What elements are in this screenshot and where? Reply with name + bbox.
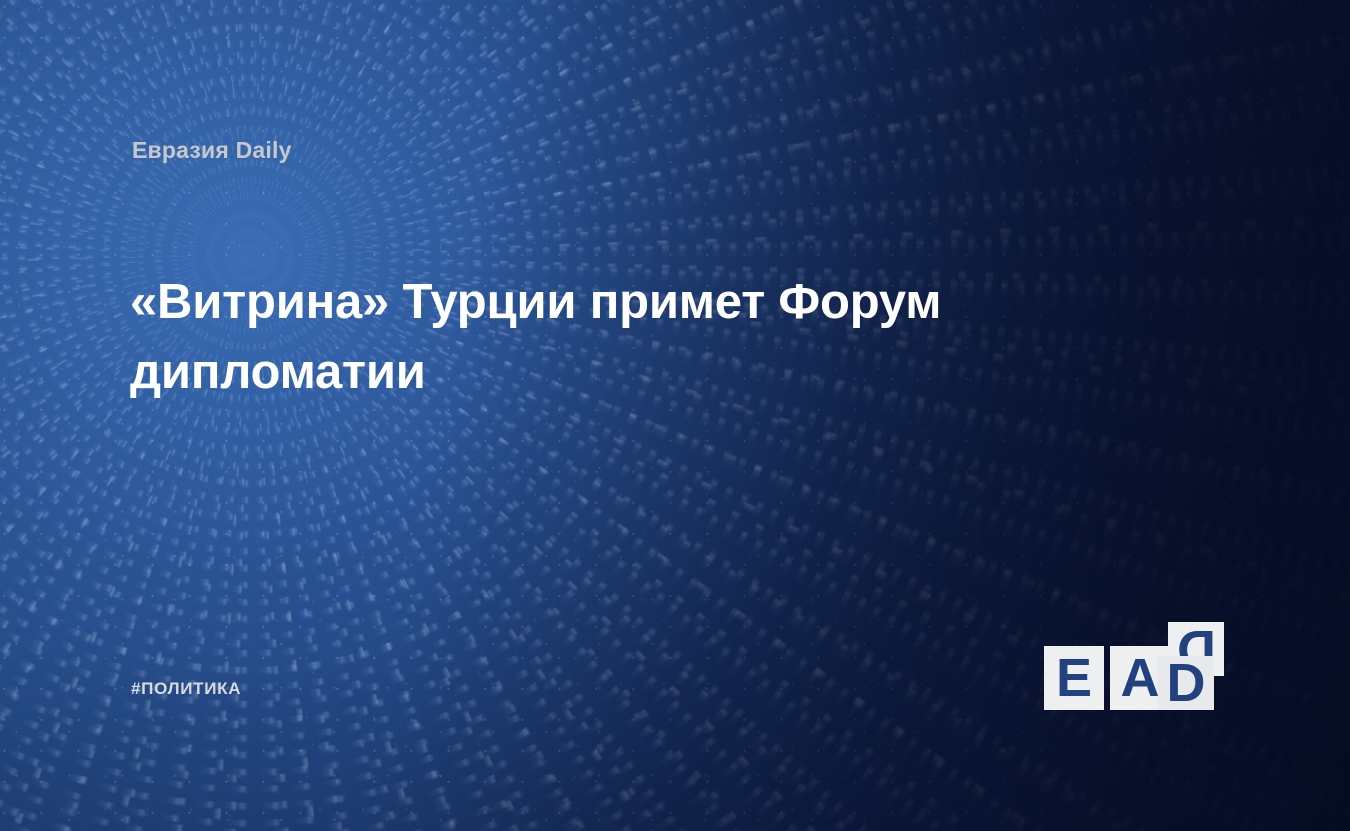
card-content: Евразия Daily «Витрина» Турции примет Фо…: [0, 0, 1350, 831]
logo-letter-a: A: [1121, 651, 1160, 705]
logo-letter-d: D: [1167, 656, 1206, 710]
logo-tile-d: D: [1158, 656, 1214, 710]
logo-tile-e: E: [1044, 646, 1104, 710]
eadaily-logo[interactable]: E A D D: [1044, 622, 1224, 710]
page-title: «Витрина» Турции примет Форум дипломатии: [130, 268, 1060, 407]
news-share-card: Евразия Daily «Витрина» Турции примет Фо…: [0, 0, 1350, 831]
logo-letter-e: E: [1056, 651, 1092, 705]
publication-brand-label: Евразия Daily: [132, 137, 292, 164]
category-tag[interactable]: #ПОЛИТИКА: [131, 679, 241, 699]
